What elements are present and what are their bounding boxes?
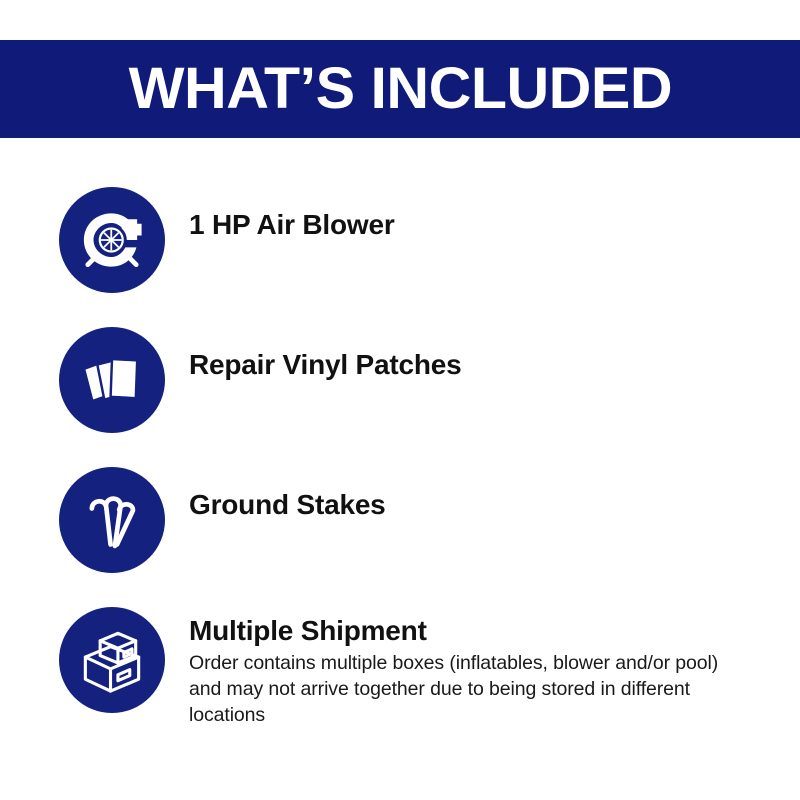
list-item-text: 1 HP Air Blower: [189, 187, 800, 241]
vinyl-patches-icon: [59, 327, 165, 433]
air-blower-icon: [59, 187, 165, 293]
ground-stakes-icon: [59, 467, 165, 573]
list-item: 1 HP Air Blower: [0, 187, 800, 293]
list-item-label: Repair Vinyl Patches: [189, 349, 745, 381]
list-item: Repair Vinyl Patches: [0, 327, 800, 433]
header-banner: WHAT’S INCLUDED: [0, 40, 800, 138]
list-item: Multiple Shipment Order contains multipl…: [0, 607, 800, 728]
page-title: WHAT’S INCLUDED: [128, 60, 671, 118]
list-item-text: Repair Vinyl Patches: [189, 327, 800, 381]
product-whats-included-panel: WHAT’S INCLUDED: [0, 0, 800, 800]
list-item-label: 1 HP Air Blower: [189, 209, 745, 241]
list-item-label: Ground Stakes: [189, 489, 745, 521]
list-item-text: Ground Stakes: [189, 467, 800, 521]
list-item-text: Multiple Shipment Order contains multipl…: [189, 607, 800, 728]
list-item-label: Multiple Shipment: [189, 615, 745, 647]
shipment-boxes-icon: [59, 607, 165, 713]
list-item: Ground Stakes: [0, 467, 800, 573]
list-item-description: Order contains multiple boxes (inflatabl…: [189, 651, 745, 728]
